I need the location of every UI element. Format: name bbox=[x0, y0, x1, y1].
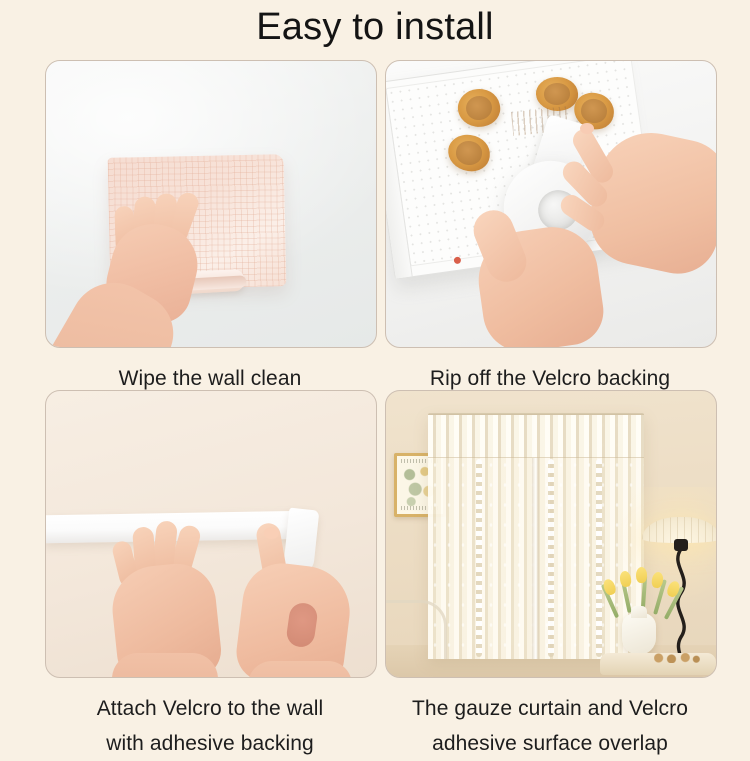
curtain-valance bbox=[428, 415, 644, 458]
step-card-4: The gauze curtain and Velcro adhesive su… bbox=[385, 390, 715, 761]
curtain-lace-trim bbox=[596, 459, 602, 657]
curtain-lace-trim bbox=[476, 459, 482, 657]
caption-line-1: Wipe the wall clean bbox=[119, 367, 302, 390]
curtain-lace-trim bbox=[548, 459, 554, 657]
forearm bbox=[112, 653, 218, 678]
page-title: Easy to install bbox=[0, 6, 750, 49]
pressing-hand-right bbox=[222, 521, 362, 678]
peeling-hand bbox=[576, 109, 717, 285]
step-4-caption: The gauze curtain and Velcro adhesive su… bbox=[385, 691, 715, 761]
product-infographic: Easy to install bbox=[0, 0, 750, 750]
step-card-2: Rip off the Velcro backing bbox=[385, 60, 715, 396]
tulip-bud bbox=[636, 567, 647, 583]
step-2-photo bbox=[385, 60, 717, 348]
fingernail bbox=[580, 123, 594, 134]
decor-objects bbox=[654, 653, 700, 663]
tulip-bud bbox=[619, 570, 632, 587]
vase-neck bbox=[631, 606, 647, 618]
caption-line-1: The gauze curtain and Velcro bbox=[412, 697, 688, 720]
notebook-red-dot bbox=[453, 256, 461, 264]
step-3-caption: Attach Velcro to the wall with adhesive … bbox=[45, 691, 375, 761]
caption-line-1: Attach Velcro to the wall bbox=[97, 697, 324, 720]
caption-line-2: with adhesive backing bbox=[45, 726, 375, 761]
step-3-photo bbox=[45, 390, 377, 678]
caption-line-1: Rip off the Velcro backing bbox=[430, 367, 670, 390]
pressing-hand-left bbox=[104, 517, 234, 678]
step-4-photo bbox=[385, 390, 717, 678]
step-card-3: Attach Velcro to the wall with adhesive … bbox=[45, 390, 375, 761]
step-1-photo bbox=[45, 60, 377, 348]
caption-line-2: adhesive surface overlap bbox=[385, 726, 715, 761]
forearm bbox=[248, 661, 352, 678]
fingernail bbox=[264, 527, 279, 539]
step-card-1: Wipe the wall clean bbox=[45, 60, 375, 396]
flower-vase bbox=[622, 613, 656, 655]
steps-grid: Wipe the wall clean bbox=[0, 60, 750, 750]
chair-outline bbox=[386, 600, 447, 659]
